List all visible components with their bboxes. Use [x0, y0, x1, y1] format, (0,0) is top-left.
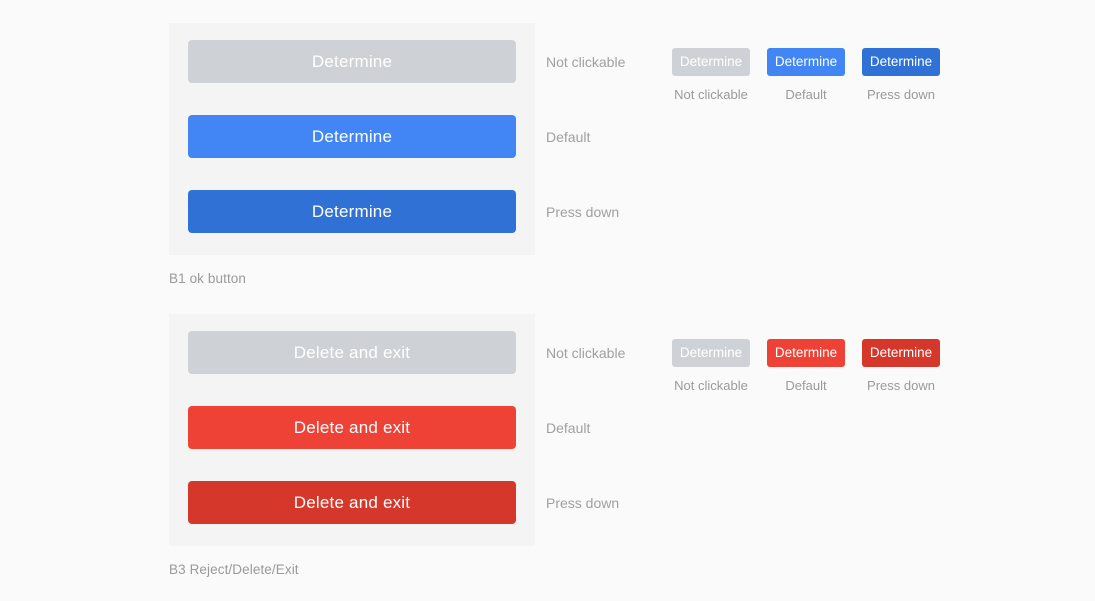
chip-button-b1-not-clickable[interactable]: Determine — [672, 48, 750, 76]
chip-caption-b3-default: Default — [785, 378, 826, 393]
chip-cell-b3-default: Determine Default — [767, 339, 845, 393]
chip-button-b3-press-down[interactable]: Determine — [862, 339, 940, 367]
button-preview-panel-b3: Delete and exit Delete and exit Delete a… — [169, 314, 535, 546]
chip-row-b1: Determine Not clickable Determine Defaul… — [672, 48, 940, 102]
state-label-b1-default: Default — [546, 115, 625, 158]
chip-button-b1-press-down[interactable]: Determine — [862, 48, 940, 76]
button-rows-b3: Delete and exit Delete and exit Delete a… — [169, 314, 535, 546]
button-rows-b1: Determine Determine Determine — [169, 23, 535, 255]
chip-caption-b1-default: Default — [785, 87, 826, 102]
state-label-b3-default: Default — [546, 406, 625, 449]
state-label-b1-press-down: Press down — [546, 190, 625, 233]
state-label-b3-press-down: Press down — [546, 481, 625, 524]
button-b3-default[interactable]: Delete and exit — [188, 406, 516, 449]
group-caption-b3: B3 Reject/Delete/Exit — [169, 562, 299, 577]
state-label-column-b3: Not clickable Default Press down — [546, 314, 625, 524]
button-b1-not-clickable[interactable]: Determine — [188, 40, 516, 83]
chip-cell-b1-not-clickable: Determine Not clickable — [672, 48, 750, 102]
button-b3-press-down[interactable]: Delete and exit — [188, 481, 516, 524]
button-b1-default[interactable]: Determine — [188, 115, 516, 158]
chip-row-b3: Determine Not clickable Determine Defaul… — [672, 339, 940, 393]
chip-button-b1-default[interactable]: Determine — [767, 48, 845, 76]
state-label-column-b1: Not clickable Default Press down — [546, 23, 625, 233]
button-b3-not-clickable[interactable]: Delete and exit — [188, 331, 516, 374]
chip-button-b3-not-clickable[interactable]: Determine — [672, 339, 750, 367]
chip-caption-b1-press-down: Press down — [867, 87, 935, 102]
state-label-b1-not-clickable: Not clickable — [546, 40, 625, 83]
chip-caption-b1-not-clickable: Not clickable — [674, 87, 748, 102]
state-label-b3-not-clickable: Not clickable — [546, 331, 625, 374]
chip-caption-b3-not-clickable: Not clickable — [674, 378, 748, 393]
chip-cell-b1-press-down: Determine Press down — [862, 48, 940, 102]
chip-cell-b3-press-down: Determine Press down — [862, 339, 940, 393]
chip-button-b3-default[interactable]: Determine — [767, 339, 845, 367]
button-b1-press-down[interactable]: Determine — [188, 190, 516, 233]
chip-caption-b3-press-down: Press down — [867, 378, 935, 393]
chip-cell-b3-not-clickable: Determine Not clickable — [672, 339, 750, 393]
group-caption-b1: B1 ok button — [169, 271, 246, 286]
button-preview-panel-b1: Determine Determine Determine — [169, 23, 535, 255]
chip-cell-b1-default: Determine Default — [767, 48, 845, 102]
